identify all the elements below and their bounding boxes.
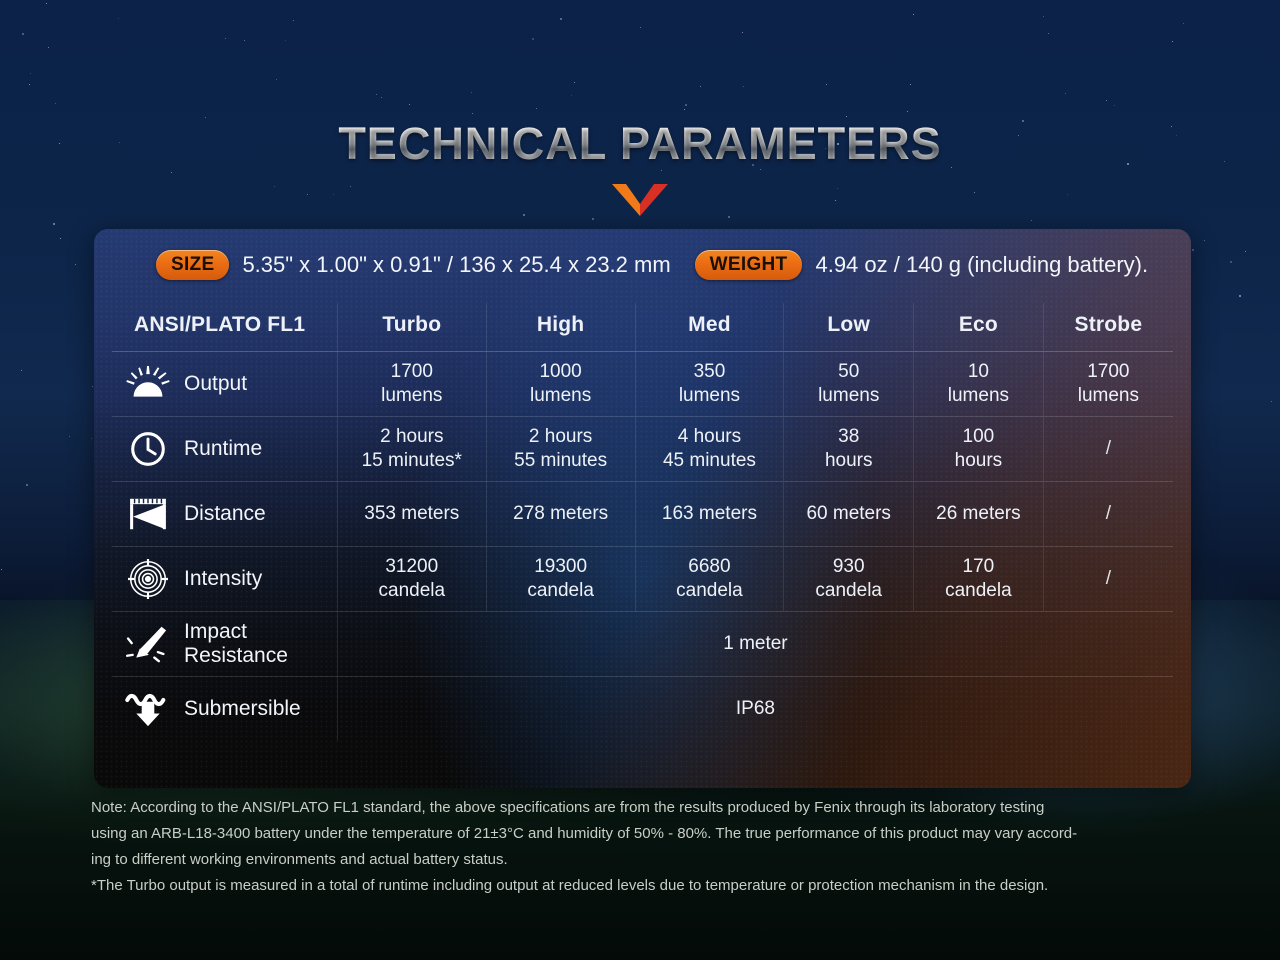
submersible-icon	[124, 689, 172, 729]
footnote-line-3: ing to different working environments an…	[91, 847, 1203, 873]
target-icon	[124, 559, 172, 599]
row-label-runtime: Runtime	[112, 416, 337, 481]
cell-2-4: 26 meters	[914, 481, 1044, 546]
footnote-line-4: *The Turbo output is measured in a total…	[91, 873, 1203, 899]
row-label-submersible: Submersible	[112, 676, 337, 741]
footnote: Note: According to the ANSI/PLATO FL1 st…	[91, 795, 1203, 899]
row-label-impact-resistance: ImpactResistance	[112, 611, 337, 676]
cell-3-0: 31200candela	[337, 546, 486, 611]
footnote-line-1: Note: According to the ANSI/PLATO FL1 st…	[91, 795, 1203, 821]
size-value: 5.35" x 1.00" x 0.91" / 136 x 25.4 x 23.…	[242, 252, 670, 278]
cell-0-1: 1000lumens	[486, 351, 635, 416]
column-header-strobe: Strobe	[1043, 303, 1173, 351]
row-label-text: Intensity	[184, 567, 262, 591]
column-header-high: High	[486, 303, 635, 351]
column-header-low: Low	[784, 303, 914, 351]
cell-0-2: 350lumens	[635, 351, 784, 416]
size-badge: SIZE	[156, 250, 229, 280]
column-header-turbo: Turbo	[337, 303, 486, 351]
row-label-text: Runtime	[184, 437, 262, 461]
cell-1-2: 4 hours45 minutes	[635, 416, 784, 481]
table-row: Runtime2 hours15 minutes*2 hours55 minut…	[112, 416, 1173, 481]
cell-2-1: 278 meters	[486, 481, 635, 546]
column-header-eco: Eco	[914, 303, 1044, 351]
cell-1-4: 100hours	[914, 416, 1044, 481]
cell-0-0: 1700lumens	[337, 351, 486, 416]
table-row: Output1700lumens1000lumens350lumens50lum…	[112, 351, 1173, 416]
clock-icon	[124, 429, 172, 469]
cell-3-5: /	[1043, 546, 1173, 611]
row-label-distance: Distance	[112, 481, 337, 546]
table-body: Output1700lumens1000lumens350lumens50lum…	[112, 351, 1173, 741]
specifications-table: ANSI/PLATO FL1 Turbo High Med Low Eco St…	[112, 303, 1173, 741]
row-label-intensity: Intensity	[112, 546, 337, 611]
cell-1-0: 2 hours15 minutes*	[337, 416, 486, 481]
footnote-line-2: using an ARB-L18-3400 battery under the …	[91, 821, 1203, 847]
table-row: Intensity31200candela19300candela6680can…	[112, 546, 1173, 611]
page-header: TECHNICAL PARAMETERS	[0, 118, 1280, 221]
beam-distance-icon	[124, 494, 172, 534]
spec-panel: SIZE 5.35" x 1.00" x 0.91" / 136 x 25.4 …	[94, 229, 1191, 788]
impact-icon	[124, 624, 172, 664]
row-span-value: IP68	[337, 676, 1173, 741]
row-label-text: Output	[184, 372, 247, 396]
cell-1-1: 2 hours55 minutes	[486, 416, 635, 481]
cell-2-5: /	[1043, 481, 1173, 546]
weight-badge: WEIGHT	[695, 250, 803, 280]
table-header: ANSI/PLATO FL1 Turbo High Med Low Eco St…	[112, 303, 1173, 351]
column-header-med: Med	[635, 303, 784, 351]
cell-2-0: 353 meters	[337, 481, 486, 546]
cell-3-2: 6680candela	[635, 546, 784, 611]
table-row: Distance353 meters278 meters163 meters60…	[112, 481, 1173, 546]
row-span-value: 1 meter	[337, 611, 1173, 676]
row-label-text: Distance	[184, 502, 266, 526]
page-title: TECHNICAL PARAMETERS	[338, 118, 941, 170]
cell-0-3: 50lumens	[784, 351, 914, 416]
column-header-ansi: ANSI/PLATO FL1	[112, 303, 337, 351]
cell-0-4: 10lumens	[914, 351, 1044, 416]
cell-3-1: 19300candela	[486, 546, 635, 611]
sunburst-icon	[124, 364, 172, 404]
row-label-text: Submersible	[184, 697, 301, 721]
header-row: ANSI/PLATO FL1 Turbo High Med Low Eco St…	[112, 303, 1173, 351]
cell-3-3: 930candela	[784, 546, 914, 611]
cell-2-3: 60 meters	[784, 481, 914, 546]
table-row: SubmersibleIP68	[112, 676, 1173, 741]
table-row: ImpactResistance1 meter	[112, 611, 1173, 676]
cell-1-5: /	[1043, 416, 1173, 481]
cell-1-3: 38hours	[784, 416, 914, 481]
row-label-text: ImpactResistance	[184, 620, 288, 668]
row-label-output: Output	[112, 351, 337, 416]
weight-value: 4.94 oz / 140 g (including battery).	[815, 252, 1148, 278]
cell-0-5: 1700lumens	[1043, 351, 1173, 416]
cell-3-4: 170candela	[914, 546, 1044, 611]
chevron-down-icon	[612, 182, 668, 216]
cell-2-2: 163 meters	[635, 481, 784, 546]
size-weight-row: SIZE 5.35" x 1.00" x 0.91" / 136 x 25.4 …	[112, 229, 1173, 301]
